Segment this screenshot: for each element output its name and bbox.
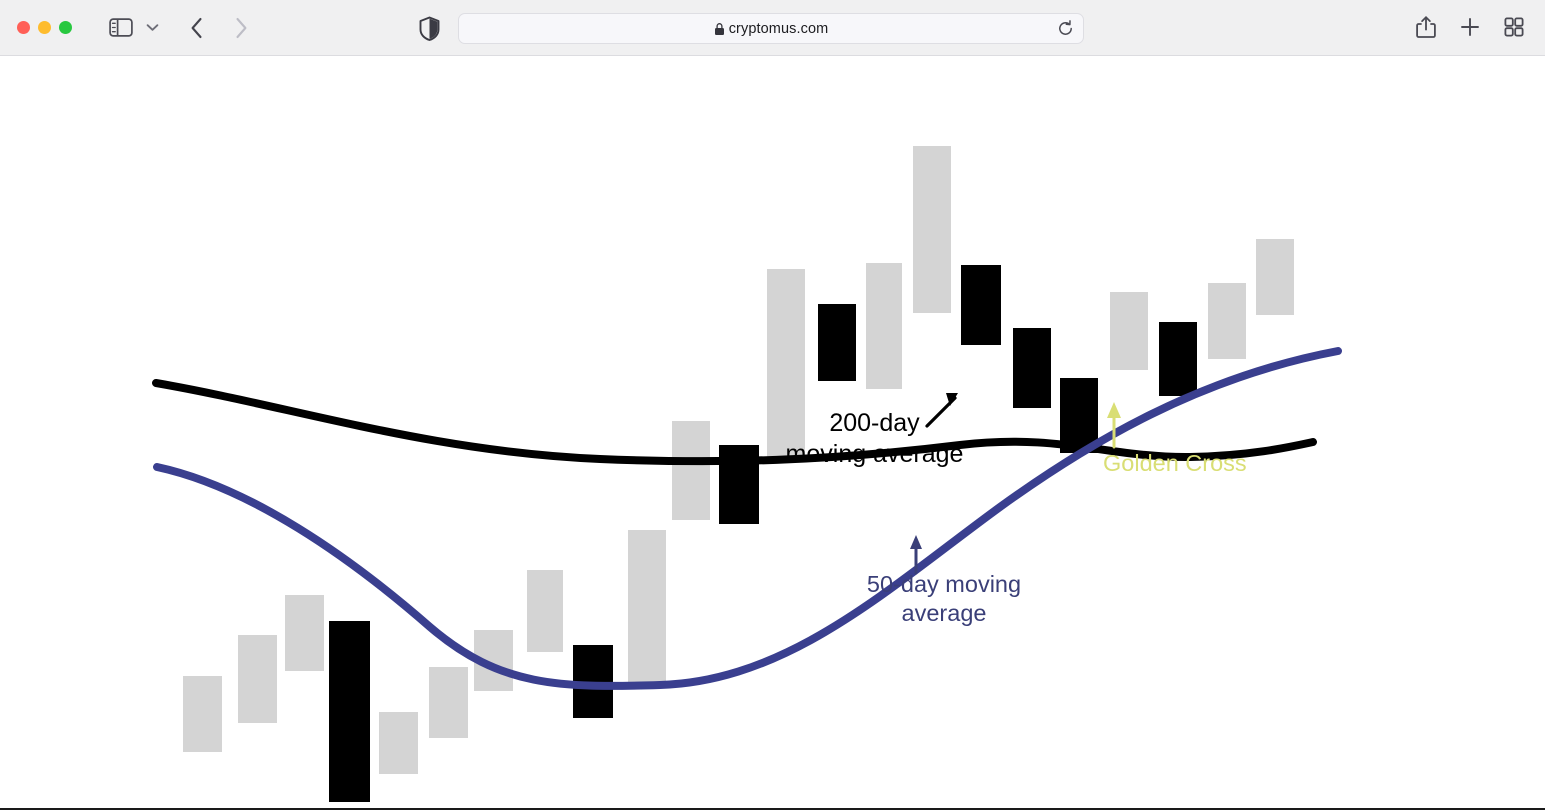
browser-window: cryptomus.com <box>0 0 1545 810</box>
address-bar[interactable]: cryptomus.com <box>458 13 1084 44</box>
candle-up <box>429 667 468 738</box>
candle-up <box>183 676 222 752</box>
sidebar-toggle-button[interactable] <box>104 13 138 43</box>
candle-down <box>1013 328 1051 408</box>
toolbar-right-actions <box>1409 12 1531 42</box>
candle-down <box>329 621 370 802</box>
candle-up <box>1256 239 1294 315</box>
candle-up <box>1110 292 1148 370</box>
candle-down <box>818 304 856 381</box>
candle-down <box>1159 322 1197 396</box>
ma200-label: 200-day moving average <box>762 408 987 469</box>
candle-up <box>866 263 902 389</box>
chevron-down-icon[interactable] <box>140 13 164 43</box>
reload-button[interactable] <box>1055 19 1075 39</box>
window-controls <box>17 21 72 34</box>
page-content: 200-day moving average 50-day moving ave… <box>0 57 1545 810</box>
tab-overview-button[interactable] <box>1497 12 1531 42</box>
ma50-label: 50-day moving average <box>838 570 1050 627</box>
candle-up <box>527 570 563 652</box>
golden-cross-label: Golden Cross <box>1103 449 1293 478</box>
address-bar-content: cryptomus.com <box>714 21 829 37</box>
candle-up <box>672 421 710 520</box>
candle-up <box>913 146 951 313</box>
forward-button[interactable] <box>224 13 258 43</box>
address-bar-url: cryptomus.com <box>729 21 829 37</box>
candle-up <box>285 595 324 671</box>
new-tab-button[interactable] <box>1453 12 1487 42</box>
navigation-controls <box>104 13 258 43</box>
back-button[interactable] <box>180 13 214 43</box>
candle-up <box>238 635 277 723</box>
close-window-button[interactable] <box>17 21 30 34</box>
candle-up <box>379 712 418 774</box>
maximize-window-button[interactable] <box>59 21 72 34</box>
candle-up <box>1208 283 1246 359</box>
candle-down <box>961 265 1001 345</box>
candle-up <box>628 530 666 682</box>
privacy-report-button[interactable] <box>414 13 445 44</box>
browser-toolbar: cryptomus.com <box>0 0 1545 56</box>
lock-icon <box>714 22 725 36</box>
minimize-window-button[interactable] <box>38 21 51 34</box>
share-button[interactable] <box>1409 12 1443 42</box>
